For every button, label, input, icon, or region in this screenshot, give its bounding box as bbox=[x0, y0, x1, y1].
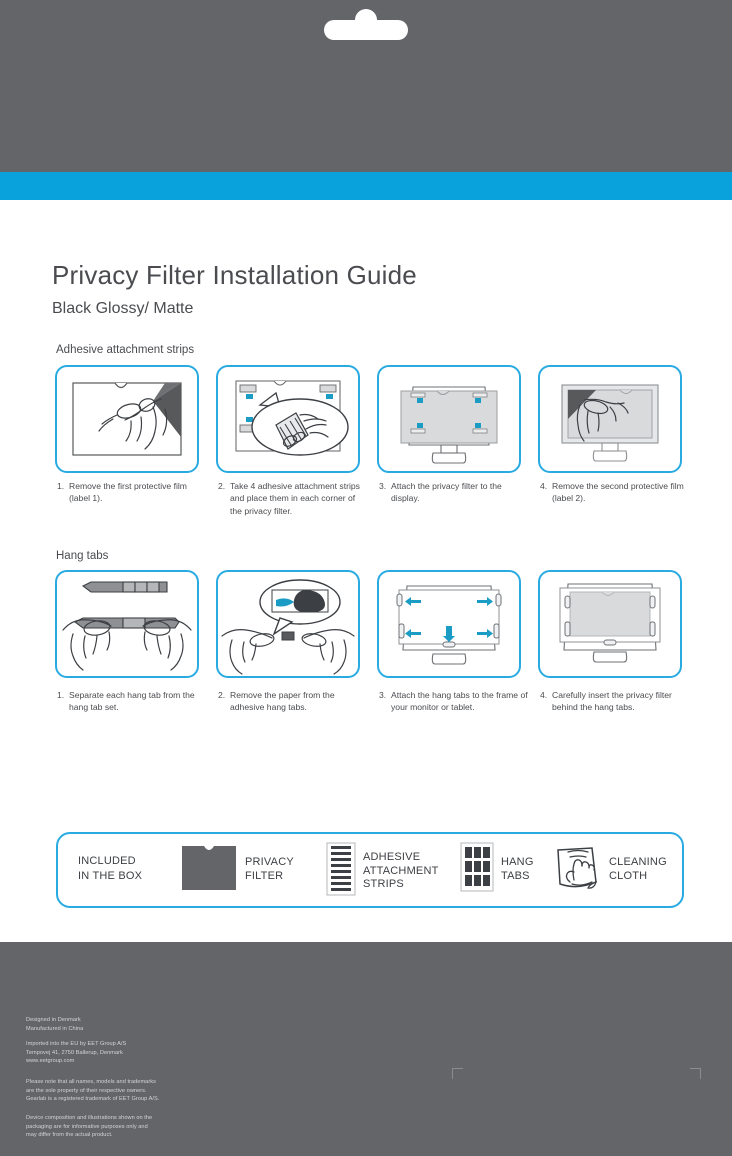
hang-tabs-icon bbox=[460, 842, 494, 897]
illustration-separate-hang-tab bbox=[55, 570, 199, 678]
box-item-privacy-filter: PRIVACY FILTER bbox=[180, 842, 294, 897]
illustration-attach-filter-to-display bbox=[377, 365, 521, 473]
page-title: Privacy Filter Installation Guide bbox=[52, 260, 417, 291]
illustration-attach-hang-tabs-to-frame bbox=[377, 570, 521, 678]
box-item-label: HANG TABS bbox=[501, 856, 534, 883]
caption-step-2-1: 1. Separate each hang tab from the hang … bbox=[57, 689, 207, 714]
step-number: 1. bbox=[57, 689, 64, 701]
caption-step-1-3: 3. Attach the privacy filter to the disp… bbox=[379, 480, 529, 505]
step-text: Separate each hang tab from the hang tab… bbox=[57, 689, 207, 714]
footer-origin: Designed in Denmark Manufactured in Chin… bbox=[26, 1016, 83, 1033]
step-text: Carefully insert the privacy filter behi… bbox=[540, 689, 690, 714]
illustration-peel-first-film bbox=[55, 365, 199, 473]
box-item-label: CLEANING CLOTH bbox=[609, 856, 667, 883]
footer-importer: Imported into the EU by EET Group A/S Te… bbox=[26, 1040, 126, 1066]
step-number: 4. bbox=[540, 480, 547, 492]
crop-mark-left bbox=[452, 1068, 463, 1079]
illustration-remove-paper-from-tabs bbox=[216, 570, 360, 678]
footer-trademark-notice: Please note that all names, models and t… bbox=[26, 1078, 159, 1104]
cleaning-cloth-icon bbox=[552, 842, 602, 897]
step-text: Remove the paper from the adhesive hang … bbox=[218, 689, 368, 714]
step-text: Attach the hang tabs to the frame of you… bbox=[379, 689, 529, 714]
box-item-cleaning-cloth: CLEANING CLOTH bbox=[552, 842, 667, 897]
step-number: 2. bbox=[218, 480, 225, 492]
instruction-card: Privacy Filter Installation Guide Black … bbox=[0, 200, 732, 942]
step-number: 4. bbox=[540, 689, 547, 701]
caption-step-2-2: 2. Remove the paper from the adhesive ha… bbox=[218, 689, 368, 714]
illustration-insert-filter-behind-tabs bbox=[538, 570, 682, 678]
crop-mark-right bbox=[690, 1068, 701, 1079]
step-text: Remove the second protective film (label… bbox=[540, 480, 690, 505]
included-in-the-box-bar: INCLUDED IN THE BOX PRIVACY FILTER bbox=[56, 832, 684, 908]
package-背景: Privacy Filter Installation Guide Black … bbox=[0, 0, 732, 1156]
caption-step-1-1: 1. Remove the first protective film (lab… bbox=[57, 480, 207, 505]
step-text: Take 4 adhesive attachment strips and pl… bbox=[218, 480, 368, 517]
step-text: Remove the first protective film (label … bbox=[57, 480, 207, 505]
caption-step-1-2: 2. Take 4 adhesive attachment strips and… bbox=[218, 480, 368, 517]
illustration-place-corner-strips bbox=[216, 365, 360, 473]
box-item-label: PRIVACY FILTER bbox=[245, 856, 294, 883]
step-number: 3. bbox=[379, 689, 386, 701]
section-heading-hang-tabs: Hang tabs bbox=[56, 550, 108, 562]
box-item-adhesive-strips: ADHESIVE ATTACHMENT STRIPS bbox=[326, 842, 439, 901]
adhesive-strips-icon bbox=[326, 842, 356, 901]
caption-step-1-4: 4. Remove the second protective film (la… bbox=[540, 480, 690, 505]
section-heading-adhesive-strips: Adhesive attachment strips bbox=[56, 344, 194, 356]
footer-disclaimer: Device composition and illustrations sho… bbox=[26, 1114, 152, 1140]
caption-step-2-3: 3. Attach the hang tabs to the frame of … bbox=[379, 689, 529, 714]
step-number: 1. bbox=[57, 480, 64, 492]
blue-accent-band bbox=[0, 172, 732, 200]
page-subtitle: Black Glossy/ Matte bbox=[52, 300, 193, 318]
included-in-the-box-label: INCLUDED IN THE BOX bbox=[78, 854, 142, 884]
box-item-label: ADHESIVE ATTACHMENT STRIPS bbox=[363, 851, 439, 891]
step-text: Attach the privacy filter to the display… bbox=[379, 480, 529, 505]
caption-step-2-4: 4. Carefully insert the privacy filter b… bbox=[540, 689, 690, 714]
privacy-filter-icon bbox=[180, 842, 238, 897]
step-number: 2. bbox=[218, 689, 225, 701]
box-item-hang-tabs: HANG TABS bbox=[460, 842, 534, 897]
step-number: 3. bbox=[379, 480, 386, 492]
euro-slot-hang-hole bbox=[324, 20, 408, 40]
illustration-peel-second-film bbox=[538, 365, 682, 473]
